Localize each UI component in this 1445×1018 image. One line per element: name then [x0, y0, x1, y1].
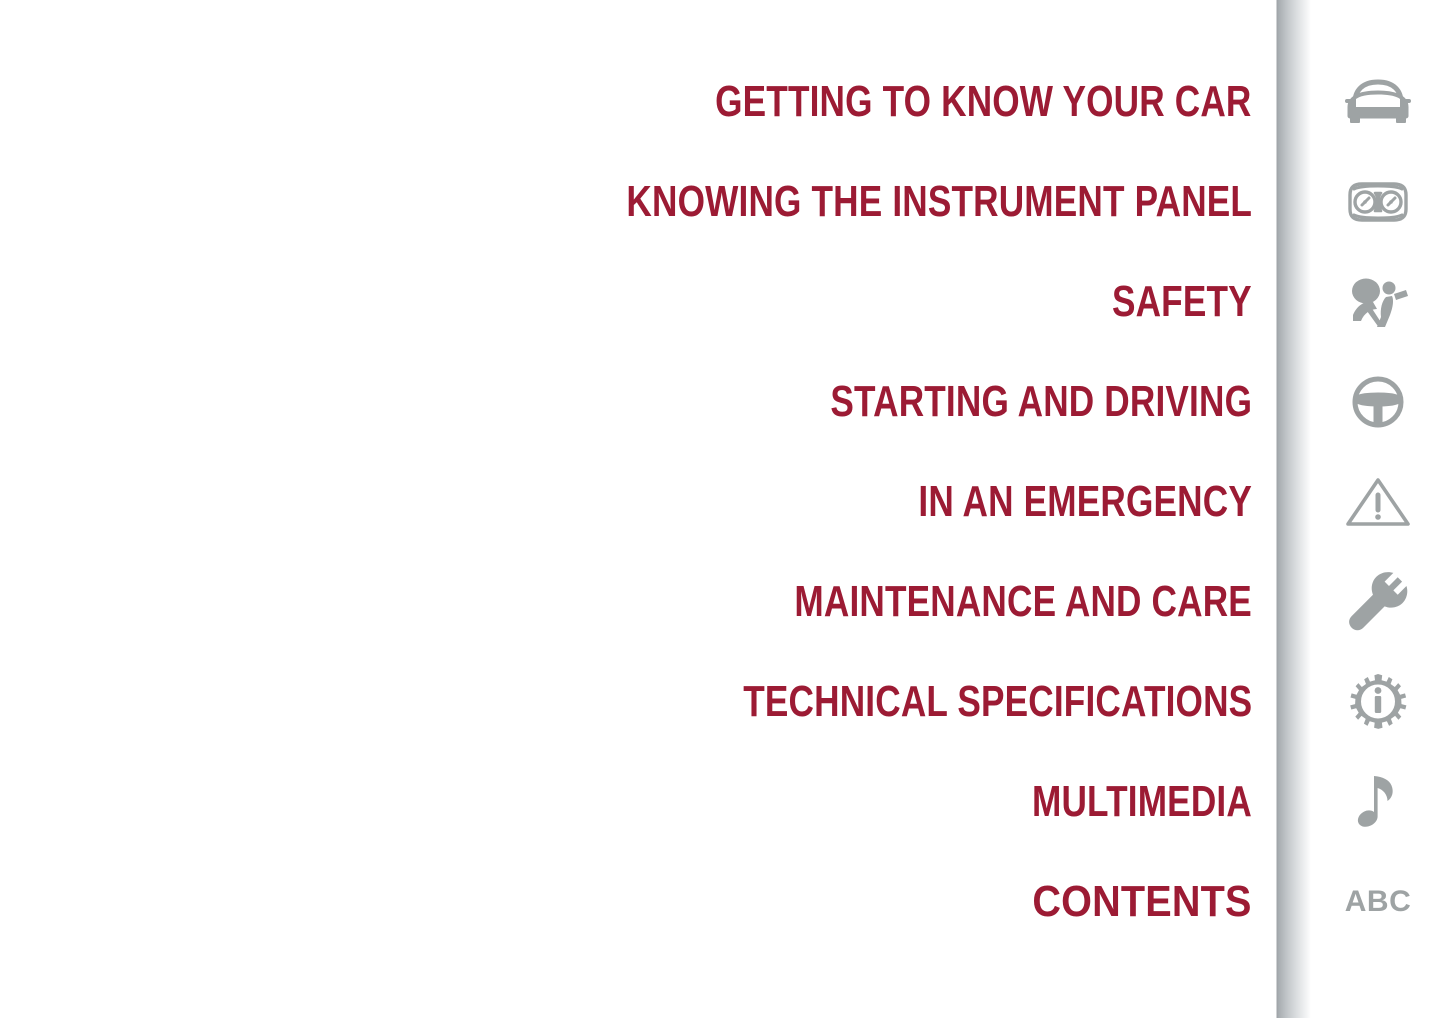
music-note-icon: [1342, 771, 1414, 833]
instrument-panel-icon: [1342, 171, 1414, 233]
section-row-in-an-emergency[interactable]: IN AN EMERGENCY: [0, 452, 1252, 552]
icon-sidebar: ABC: [1273, 0, 1445, 1018]
section-row-safety[interactable]: SAFETY: [0, 252, 1252, 352]
section-row-maintenance-and-care[interactable]: MAINTENANCE AND CARE: [0, 552, 1252, 652]
section-title: MULTIMEDIA: [1032, 780, 1252, 824]
section-row-getting-to-know-your-car[interactable]: GETTING TO KNOW YOUR CAR: [0, 52, 1252, 152]
section-row-knowing-the-instrument-panel[interactable]: KNOWING THE INSTRUMENT PANEL: [0, 152, 1252, 252]
sidebar-tab-maintenance-and-care[interactable]: [1311, 552, 1445, 652]
car-front-icon: [1342, 71, 1414, 133]
abc-index-icon: ABC: [1345, 887, 1412, 917]
gear-info-icon: [1342, 671, 1414, 733]
section-title: CONTENTS: [1033, 880, 1252, 924]
airbag-safety-icon: [1342, 271, 1414, 333]
warning-triangle-icon: [1342, 471, 1414, 533]
section-title: MAINTENANCE AND CARE: [794, 580, 1252, 624]
section-title: SAFETY: [1112, 280, 1252, 324]
section-row-multimedia[interactable]: MULTIMEDIA: [0, 752, 1252, 852]
section-row-technical-specifications[interactable]: TECHNICAL SPECIFICATIONS: [0, 652, 1252, 752]
wrench-icon: [1342, 571, 1414, 633]
section-title: KNOWING THE INSTRUMENT PANEL: [626, 180, 1252, 224]
sidebar-tab-getting-to-know-your-car[interactable]: [1311, 52, 1445, 152]
section-list: GETTING TO KNOW YOUR CAR KNOWING THE INS…: [0, 0, 1252, 1018]
sidebar-tab-technical-specifications[interactable]: [1311, 652, 1445, 752]
section-title: IN AN EMERGENCY: [918, 480, 1252, 524]
sidebar-tab-in-an-emergency[interactable]: [1311, 452, 1445, 552]
steering-wheel-icon: [1342, 371, 1414, 433]
section-row-starting-and-driving[interactable]: STARTING AND DRIVING: [0, 352, 1252, 452]
sidebar-tab-contents[interactable]: ABC: [1311, 852, 1445, 952]
section-row-contents[interactable]: CONTENTS: [0, 852, 1252, 952]
section-title: TECHNICAL SPECIFICATIONS: [743, 680, 1252, 724]
sidebar-tab-multimedia[interactable]: [1311, 752, 1445, 852]
sidebar-gradient-edge: [1273, 0, 1311, 1018]
sidebar-tab-safety[interactable]: [1311, 252, 1445, 352]
section-title: GETTING TO KNOW YOUR CAR: [716, 80, 1252, 124]
sidebar-tab-knowing-the-instrument-panel[interactable]: [1311, 152, 1445, 252]
section-title: STARTING AND DRIVING: [830, 380, 1252, 424]
manual-section-index-page: GETTING TO KNOW YOUR CAR KNOWING THE INS…: [0, 0, 1445, 1018]
sidebar-tab-starting-and-driving[interactable]: [1311, 352, 1445, 452]
